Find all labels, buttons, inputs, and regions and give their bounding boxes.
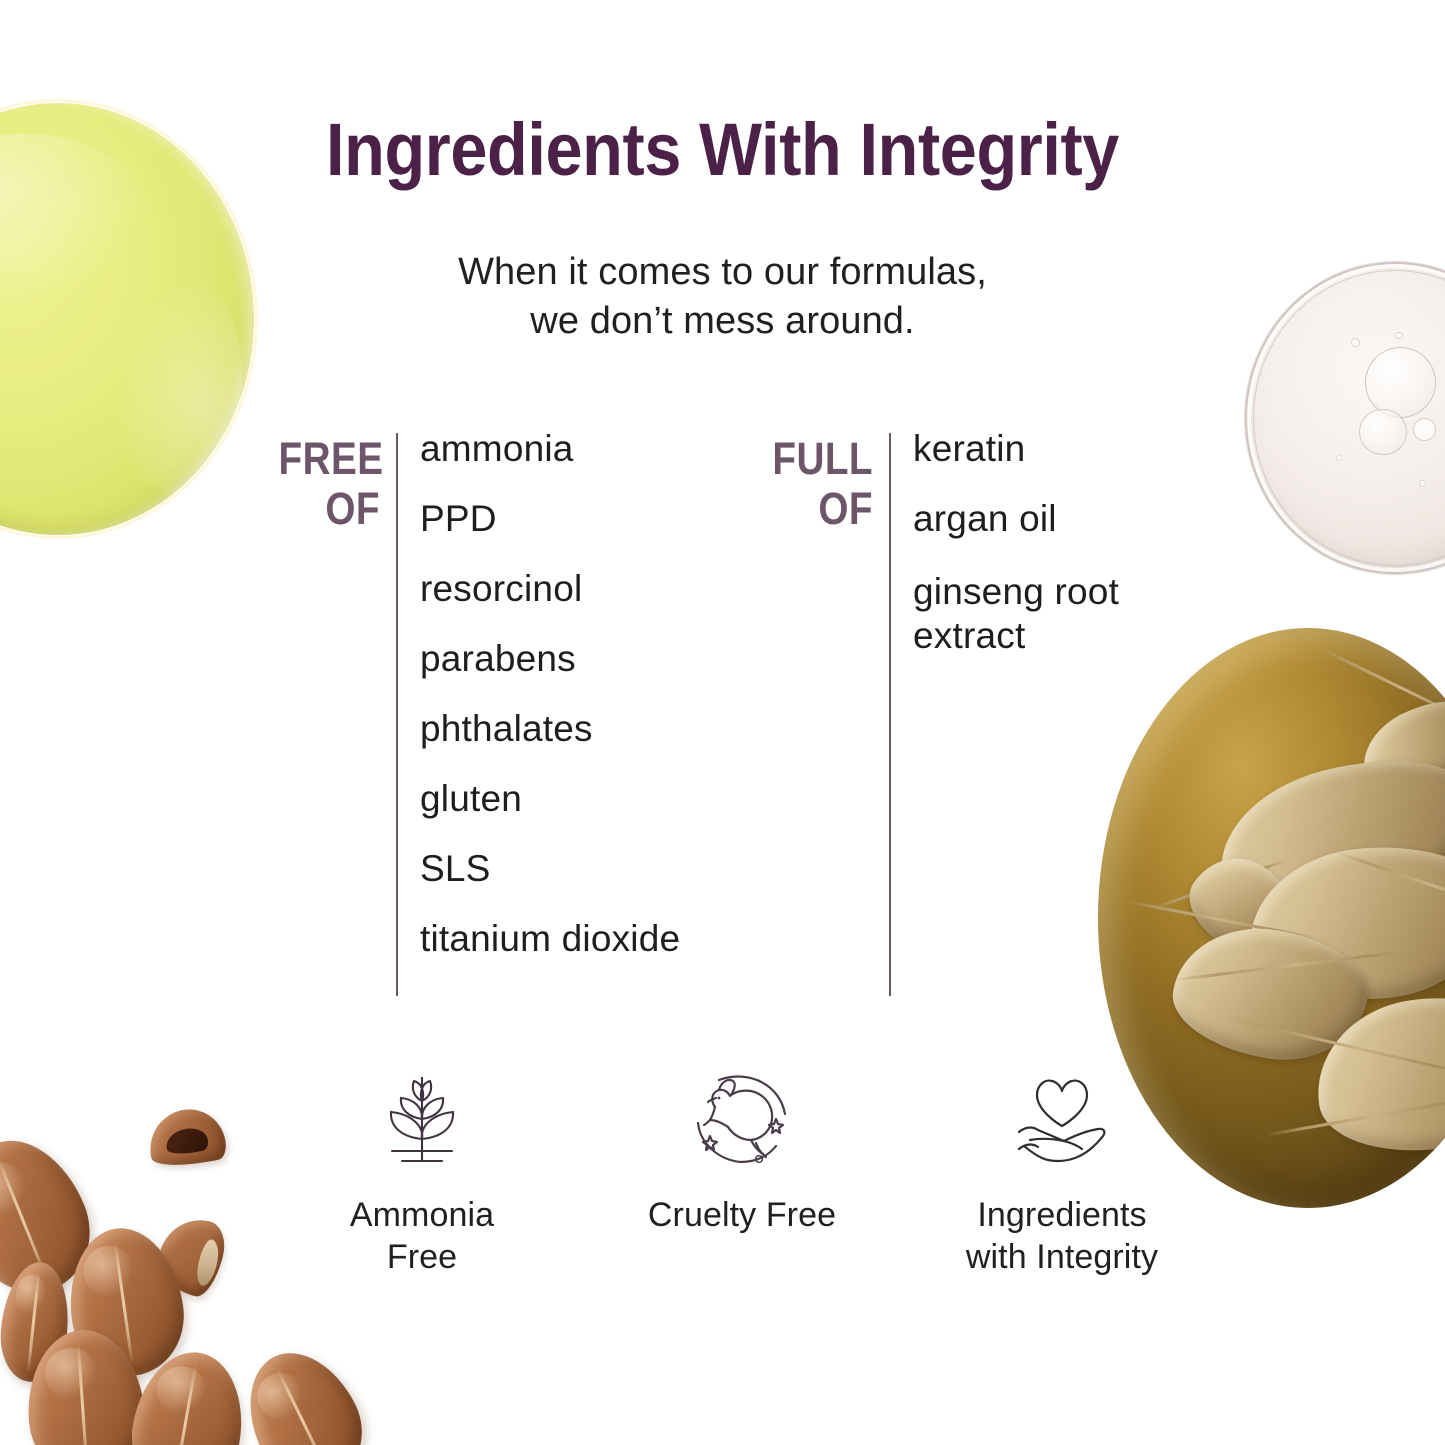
gel-bubble (1336, 455, 1343, 461)
badge-label-line-2: Free (350, 1236, 494, 1278)
full-of-label-line-2: OF (772, 484, 873, 534)
list-item: SLS (420, 850, 762, 887)
argan-shell-fragment (143, 1103, 229, 1174)
badge-label-line-1: Ingredients (966, 1194, 1158, 1236)
nut-highlight (13, 1273, 47, 1317)
full-of-column: FULL OF keratin argan oil ginseng root e… (755, 430, 1215, 1000)
badge-label-line-1: Ammonia (350, 1194, 494, 1236)
subtitle-line-1: When it comes to our formulas, (0, 248, 1445, 297)
list-item: gluten (420, 780, 762, 817)
list-item: resorcinol (420, 570, 762, 607)
full-of-list: keratin argan oil ginseng root extract (913, 430, 1215, 692)
trust-badges: Ammonia Free (262, 1062, 1222, 1312)
badge-cruelty-free: Cruelty Free (582, 1062, 902, 1312)
page-title: Ingredients With Integrity (72, 112, 1373, 187)
page-subtitle: When it comes to our formulas, we don’t … (0, 248, 1445, 345)
nut-highlight (153, 1362, 210, 1418)
free-of-divider (396, 433, 398, 996)
list-item: argan oil (913, 500, 1215, 537)
gel-bubble (1365, 347, 1436, 418)
free-of-label: FREE OF (279, 434, 380, 535)
badge-label: Ingredients with Integrity (966, 1194, 1158, 1278)
full-of-label: FULL OF (772, 434, 873, 535)
nut-highlight (43, 1346, 100, 1401)
gel-bubble (1359, 409, 1406, 455)
list-item: phthalates (420, 710, 762, 747)
list-item: keratin (913, 430, 1215, 467)
list-item: titanium dioxide (420, 920, 762, 957)
list-item: PPD (420, 500, 762, 537)
leaping-bunny-icon (682, 1062, 802, 1180)
badge-ingredients-with-integrity: Ingredients with Integrity (902, 1062, 1222, 1312)
full-of-divider (889, 433, 891, 996)
gel-bubble (1413, 418, 1437, 441)
list-item: parabens (420, 640, 762, 677)
argan-nut (227, 1334, 380, 1445)
nut-highlight (249, 1365, 312, 1428)
list-item: ammonia (420, 430, 762, 467)
ingredient-columns: FREE OF ammonia PPD resorcinol parabens … (262, 430, 1222, 1000)
subtitle-line-2: we don’t mess around. (0, 297, 1445, 346)
infographic-canvas: Ingredients With Integrity When it comes… (0, 0, 1445, 1445)
gel-bubble (1419, 480, 1426, 487)
free-of-label-line-2: OF (279, 484, 380, 534)
nut-highlight (80, 1243, 138, 1300)
full-of-label-line-1: FULL (772, 434, 873, 484)
badge-label-line-2: with Integrity (966, 1236, 1158, 1278)
free-of-column: FREE OF ammonia PPD resorcinol parabens … (262, 430, 762, 1000)
badge-ammonia-free: Ammonia Free (262, 1062, 582, 1312)
free-of-list: ammonia PPD resorcinol parabens phthalat… (420, 430, 762, 990)
badge-label: Cruelty Free (648, 1194, 836, 1236)
badge-label: Ammonia Free (350, 1194, 494, 1278)
list-item: ginseng root extract (913, 570, 1215, 659)
nut-highlight (0, 1154, 35, 1223)
plant-sprout-icon (362, 1062, 482, 1180)
heart-in-hand-icon (1002, 1062, 1122, 1180)
badge-label-line-1: Cruelty Free (648, 1194, 836, 1236)
free-of-label-line-1: FREE (279, 434, 380, 484)
